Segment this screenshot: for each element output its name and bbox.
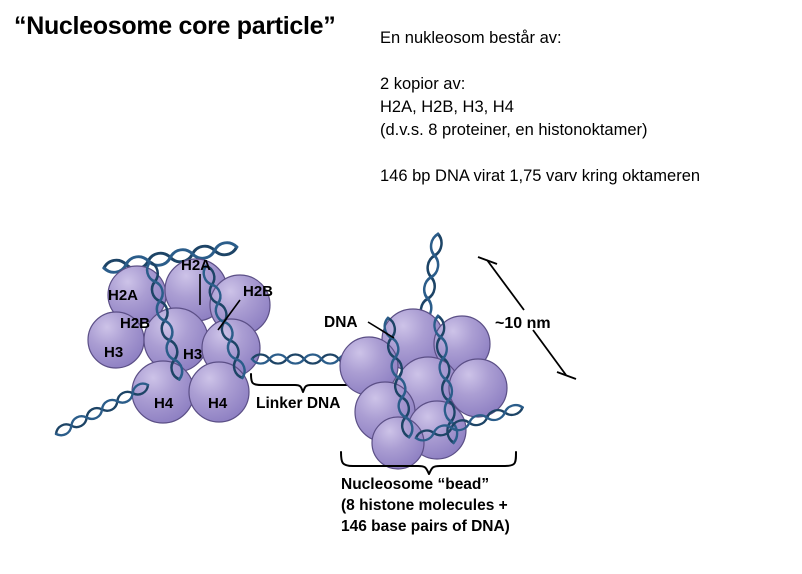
histone-sphere [449, 359, 507, 417]
scale-bar-label: ~10 nm [495, 315, 551, 332]
description-block: En nukleosom består av: 2 kopior av: H2A… [380, 27, 780, 188]
description-line: (d.v.s. 8 proteiner, en histonoktamer) [380, 119, 780, 142]
linker-dna-label: Linker DNA [256, 395, 340, 412]
histone-label-h2a-top: H2A [181, 257, 211, 274]
description-line: H2A, H2B, H3, H4 [380, 96, 780, 119]
histone-sphere [189, 362, 249, 422]
page-title: “Nucleosome core particle” [14, 12, 336, 41]
description-line: En nukleosom består av: [380, 27, 780, 50]
slide-canvas: “Nucleosome core particle” En nukleosom … [0, 0, 802, 574]
description-line: 146 bp DNA virat 1,75 varv kring oktamer… [380, 165, 780, 188]
nucleosome-diagram: H2A H2A H2B H2B H3 H3 H4 H4 Linker DNA [0, 215, 640, 560]
right-histone-octamer [340, 309, 507, 469]
histone-label-h3-mid: H3 [183, 346, 202, 363]
histone-sphere [132, 361, 194, 423]
histone-label-h4-right: H4 [208, 395, 228, 412]
caption-line: Nucleosome “bead” [341, 476, 489, 493]
caption-line: (8 histone molecules + [341, 497, 508, 514]
histone-label-h3-left: H3 [104, 344, 123, 361]
histone-label-h2b-right: H2B [243, 283, 273, 300]
linker-dna-brace [251, 374, 354, 392]
caption-line: 146 base pairs of DNA) [341, 518, 510, 535]
description-spacer [380, 142, 780, 165]
description-spacer [380, 50, 780, 73]
histone-label-h4-left: H4 [154, 395, 174, 412]
histone-sphere [372, 417, 424, 469]
nucleosome-caption: Nucleosome “bead” (8 histone molecules +… [341, 476, 510, 535]
dna-label: DNA [324, 314, 358, 331]
description-line: 2 kopior av: [380, 73, 780, 96]
histone-label-h2a-left: H2A [108, 287, 138, 304]
histone-label-h2b-left: H2B [120, 315, 150, 332]
